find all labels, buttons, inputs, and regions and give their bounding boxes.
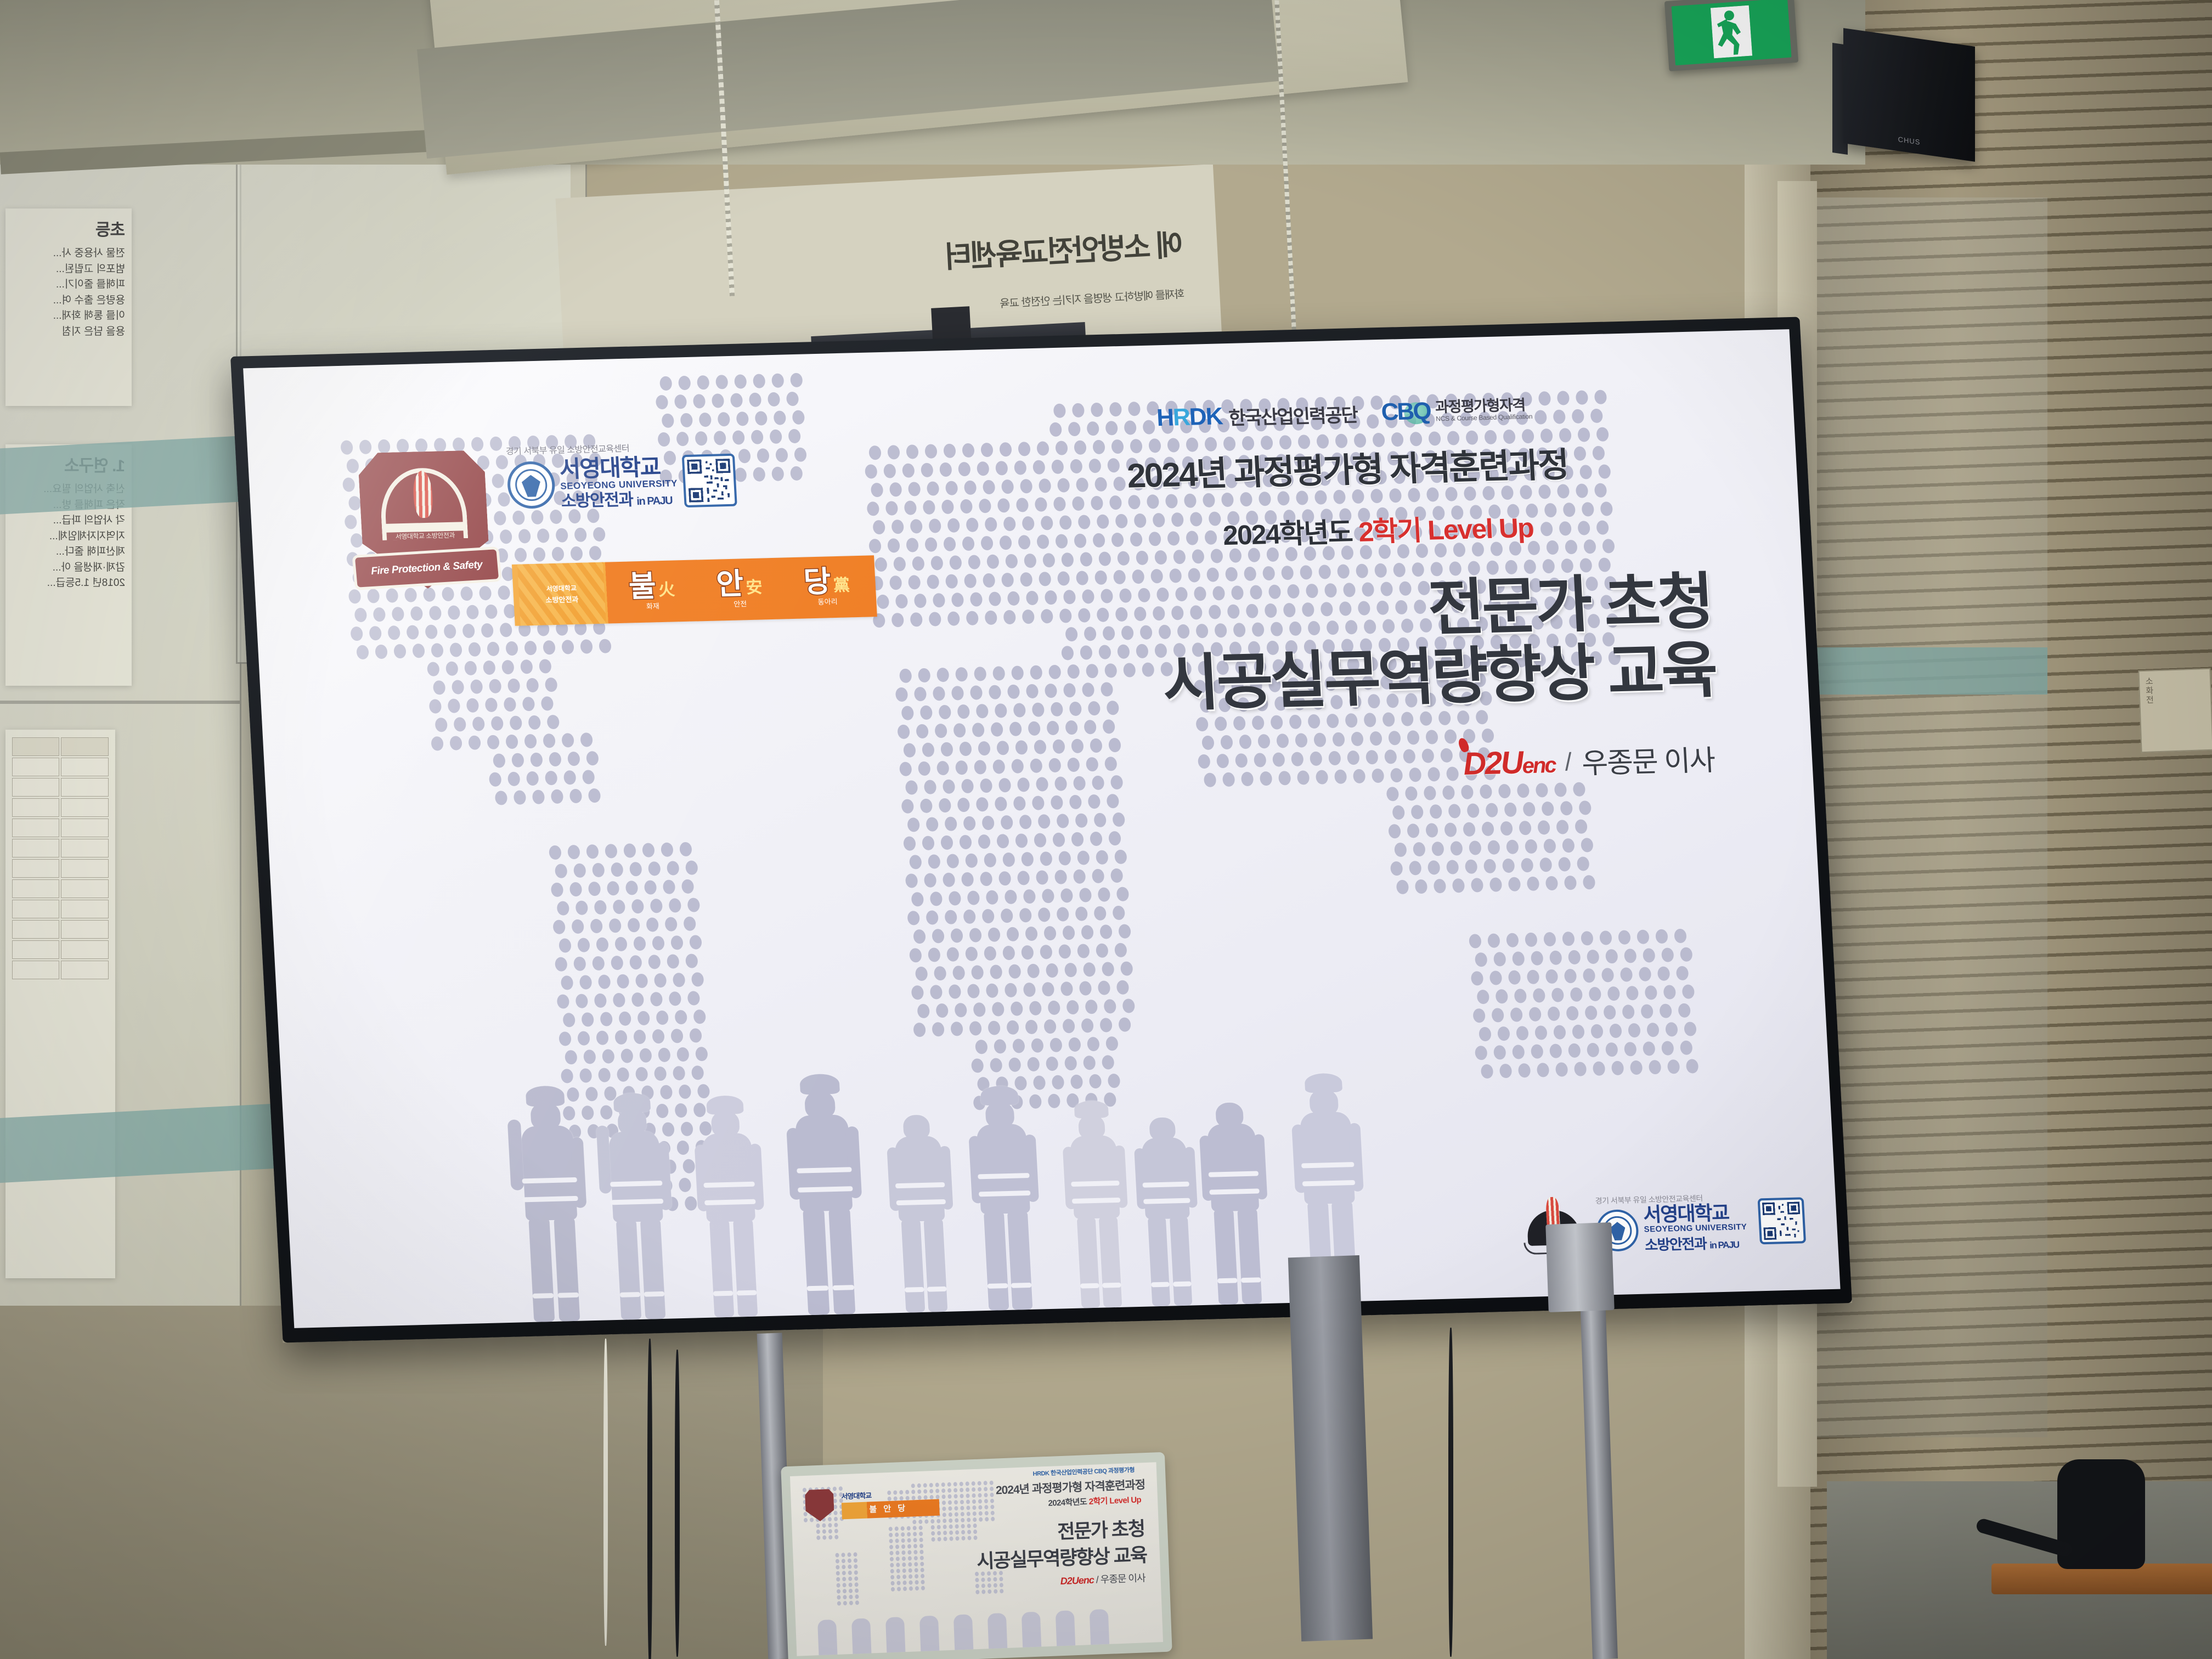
poster-map-dot xyxy=(907,1544,911,1549)
poster-map-dot xyxy=(855,1588,859,1593)
poster-map-dot xyxy=(907,1526,911,1531)
poster-map-dot xyxy=(988,1589,991,1594)
poster-map-dot xyxy=(913,1532,917,1536)
poster-map-dot xyxy=(943,1519,946,1523)
poster-map-dot xyxy=(893,1490,897,1494)
leg-shape xyxy=(803,1209,830,1315)
poster-map-dot xyxy=(855,1600,859,1605)
poster-map-dot xyxy=(841,1553,845,1557)
leg-shape xyxy=(528,1218,555,1322)
poster-map-dot xyxy=(909,1581,912,1585)
photo-scene: 초등 전물 사용중 사... 범포의 고립된... 피해를 줄이기... 용량은… xyxy=(0,0,2212,1659)
firefighter-silhouette xyxy=(887,1099,956,1313)
poster-map-dot xyxy=(920,1562,924,1566)
torso-shape xyxy=(894,1136,945,1222)
poster-map-dot xyxy=(902,1562,906,1567)
poster-map-dot xyxy=(975,1578,979,1582)
poster-firefighter-silhouette xyxy=(817,1620,838,1656)
poster-map-dot xyxy=(907,1532,911,1537)
leg-shape xyxy=(924,1218,948,1312)
poster-map-dot xyxy=(816,1536,820,1540)
poster-map-dot xyxy=(961,1524,965,1528)
poster-map-dot xyxy=(849,1595,853,1599)
poster-map-dot xyxy=(923,1489,927,1493)
arm-shape xyxy=(507,1120,524,1190)
torso-shape xyxy=(608,1131,663,1222)
black-cable xyxy=(1448,1328,1453,1657)
poster-map-dot xyxy=(915,1580,918,1584)
poster-map-dot xyxy=(935,1489,939,1493)
poster-map-dot xyxy=(985,1517,989,1521)
poster-map-dot xyxy=(911,1483,915,1488)
qr-code-icon[interactable] xyxy=(1758,1197,1806,1244)
poster-map-dot xyxy=(978,1481,981,1486)
fire-safety-crest-logo: 서영대학교 소방안전과 Fire Protection & Safety xyxy=(358,450,491,590)
poster-map-dot xyxy=(836,1577,840,1582)
poster-map-dot xyxy=(978,1493,981,1498)
floor xyxy=(0,1306,823,1659)
poster-map-dot xyxy=(854,1576,858,1581)
poster-map-dot xyxy=(842,1565,845,1569)
poster-map-dot xyxy=(897,1587,901,1591)
poster-map-dot xyxy=(929,1489,933,1493)
presenter-line: D2Uenc / 우종문 이사 xyxy=(1033,736,1748,795)
poster-frame: HRDK 한국산업인력공단 CBQ 과정평가형 2024년 과정평가형 자격훈련… xyxy=(781,1452,1172,1659)
reflective-stripe xyxy=(988,1283,1008,1289)
poster-map-dot xyxy=(981,1577,985,1582)
poster-map-dot xyxy=(901,1544,905,1549)
poster-map-dot xyxy=(848,1565,851,1569)
poster-map-dot xyxy=(990,1481,994,1485)
qr-code-svg xyxy=(687,459,732,503)
reflective-stripe xyxy=(905,1286,924,1292)
door-glass xyxy=(1817,198,2047,1437)
reflective-stripe xyxy=(1173,1281,1192,1286)
poster-map-dot xyxy=(837,1601,841,1606)
poster-map-dot xyxy=(949,1531,953,1535)
poster-firefighter-silhouette xyxy=(885,1617,906,1656)
leg-shape xyxy=(984,1211,1009,1311)
exit-icon xyxy=(1671,0,1791,65)
poster-map-dot xyxy=(929,1483,933,1487)
poster-map-dot xyxy=(931,1537,935,1542)
poster-map-dot xyxy=(921,1580,924,1584)
poster-map-dot xyxy=(836,1583,840,1588)
poster-map-dot xyxy=(890,1563,894,1567)
poster-map-dot xyxy=(836,1571,840,1576)
poster-map-dot xyxy=(990,1499,994,1503)
poster-map-dot xyxy=(913,1550,917,1554)
poster-map-dot xyxy=(981,1589,985,1594)
poster-map-dot xyxy=(943,1513,946,1517)
poster-map-dot xyxy=(843,1601,847,1605)
leg-shape xyxy=(828,1208,856,1314)
firefighter-silhouette xyxy=(600,1092,674,1320)
poster-map-dot xyxy=(848,1559,851,1563)
firefighter-silhouette xyxy=(1134,1103,1200,1307)
poster-map-dot xyxy=(889,1545,893,1549)
poster-presenter: D2Uenc / 우종문 이사 xyxy=(1060,1570,1145,1588)
firefighter-silhouette xyxy=(786,1073,865,1315)
poster-map-dot xyxy=(978,1487,981,1492)
term-line: 2024학년도 2학기 Level Up xyxy=(1031,501,1725,558)
poster-map-dot xyxy=(990,1487,994,1491)
poster-map-dot xyxy=(843,1595,847,1599)
poster-map-dot xyxy=(1000,1589,1003,1593)
poster-map-dot xyxy=(984,1493,988,1497)
poster-map-dot xyxy=(975,1584,979,1588)
poster-map-dot xyxy=(902,1568,906,1573)
poster-map-dot xyxy=(896,1581,900,1585)
poster-firefighter-silhouette xyxy=(1056,1610,1076,1649)
poster-map-dot xyxy=(899,1490,903,1494)
poster-map-dot xyxy=(842,1577,846,1581)
poster-map-dot xyxy=(810,1517,814,1522)
poster-map-dot xyxy=(966,1493,969,1498)
emergency-exit-sign xyxy=(1664,0,1798,71)
reflective-stripe xyxy=(832,1285,854,1290)
poster-map-dot xyxy=(849,1601,853,1605)
poster-map-dot xyxy=(930,1519,934,1523)
tv-bezel: 서영대학교 소방안전과 Fire Protection & Safety 경기 … xyxy=(230,317,1852,1343)
wall-mounted-display[interactable]: 서영대학교 소방안전과 Fire Protection & Safety 경기 … xyxy=(230,317,1852,1343)
reflective-stripe xyxy=(620,1292,641,1297)
poster-map-dot xyxy=(912,1520,916,1524)
poster-map-dot xyxy=(843,1589,847,1593)
poster-map-dot xyxy=(890,1569,894,1573)
reflective-stripe xyxy=(737,1290,757,1295)
poster-map-dot xyxy=(979,1511,983,1516)
poster-map-dot xyxy=(895,1526,899,1531)
poster-map-dot xyxy=(837,1595,840,1600)
poster-map-dot xyxy=(822,1529,826,1533)
firefighter-silhouette xyxy=(694,1095,767,1318)
torso-shape xyxy=(1070,1135,1120,1219)
leg-shape xyxy=(1237,1208,1262,1304)
poster-map-dot xyxy=(966,1505,970,1510)
leg-shape xyxy=(709,1220,735,1317)
poster-map-dot xyxy=(973,1523,977,1528)
presentation-slide: 서영대학교 소방안전과 Fire Protection & Safety 경기 … xyxy=(243,329,1840,1328)
poster-map-dot xyxy=(947,1494,951,1499)
poster-map-dot xyxy=(913,1526,917,1530)
poster-map-dot xyxy=(960,1488,963,1492)
poster-map-dot xyxy=(896,1556,900,1561)
poster-map-dot xyxy=(961,1518,964,1522)
poster-map-dot xyxy=(890,1581,894,1585)
poster-firefighter-silhouette xyxy=(919,1616,940,1655)
poster-map-dot xyxy=(960,1482,963,1486)
poster-firefighter-silhouette xyxy=(953,1614,974,1653)
reflective-stripe xyxy=(1102,1282,1121,1288)
poster-map-dot xyxy=(990,1493,994,1497)
d2u-enc-logo: D2Uenc xyxy=(1463,743,1556,782)
poster-map-dot xyxy=(847,1553,851,1557)
poster-map-dot xyxy=(984,1487,988,1491)
poster-map-dot xyxy=(848,1571,852,1575)
torso-shape xyxy=(521,1125,578,1221)
poster-map-dot xyxy=(907,1550,911,1555)
poster-map-dot xyxy=(955,1512,958,1516)
poster-map-dot xyxy=(961,1512,964,1516)
qr-code-icon[interactable] xyxy=(681,454,737,507)
poster-map-dot xyxy=(919,1538,923,1542)
poster-map-dot xyxy=(913,1544,917,1548)
poster-map-dot xyxy=(954,1500,958,1504)
poster-map-dot xyxy=(854,1570,858,1575)
reflective-stripe xyxy=(1080,1283,1099,1288)
poster-map-dot xyxy=(921,1574,924,1578)
poster-map-dot xyxy=(915,1574,918,1578)
poster-map-dot xyxy=(955,1518,958,1522)
leg-shape xyxy=(1214,1209,1238,1305)
reflective-stripe xyxy=(713,1290,733,1296)
poster-map-dot xyxy=(979,1517,983,1522)
poster-map-dot xyxy=(914,1562,918,1566)
firefighter-silhouette xyxy=(968,1085,1042,1311)
poster-map-dot xyxy=(953,1488,957,1492)
poster-map-dot xyxy=(923,1483,927,1487)
leg-shape xyxy=(1007,1211,1033,1310)
poster-map-dot xyxy=(848,1583,852,1587)
poster-map-dot xyxy=(972,1499,976,1504)
club-badge: 서영대학교 소방안전과 xyxy=(517,562,606,626)
poster-map-dot xyxy=(854,1558,857,1562)
black-cable xyxy=(675,1350,680,1657)
qr-code-svg xyxy=(1762,1201,1802,1240)
reflective-stripe xyxy=(927,1286,946,1291)
reflective-stripe xyxy=(532,1293,554,1299)
leg-shape xyxy=(554,1217,580,1322)
poster-map-dot xyxy=(889,1551,893,1555)
poster-map-dot xyxy=(967,1530,971,1534)
sponsor-organizations-row: HRDK 한국산업인력공단 CBQ 과정평가형자격 NCS & Course B… xyxy=(998,391,1691,436)
poster-map-dot xyxy=(909,1568,912,1573)
poster-map-dot xyxy=(918,1520,922,1524)
poster-map-dot xyxy=(990,1505,994,1509)
poster-map-dot xyxy=(921,1568,924,1572)
poster-map-dot xyxy=(901,1550,905,1555)
poster-map-dot xyxy=(803,1512,807,1516)
poster-map-dot xyxy=(816,1530,820,1534)
poster-map-dot xyxy=(834,1529,838,1533)
poster-map-dot xyxy=(937,1531,941,1535)
poster-map-dot xyxy=(887,1491,891,1495)
poster-map-dot xyxy=(948,1506,952,1511)
firefighter-silhouette xyxy=(1062,1100,1130,1308)
poster-map-dot xyxy=(834,1523,838,1527)
poster-map-dot xyxy=(908,1562,912,1567)
poster-map-dot xyxy=(913,1538,917,1542)
poster-map-dot xyxy=(842,1571,846,1575)
poster-map-dot xyxy=(973,1511,977,1516)
poster-map-dot xyxy=(955,1524,959,1528)
poster-map-dot xyxy=(942,1506,946,1511)
poster-map-dot xyxy=(822,1523,826,1527)
poster-firefighter-silhouette xyxy=(851,1618,872,1656)
leg-shape xyxy=(616,1220,642,1319)
poster-map-dot xyxy=(920,1556,924,1560)
poster-map-dot xyxy=(919,1544,923,1548)
leg-shape xyxy=(1076,1217,1100,1308)
poster-map-dot xyxy=(955,1530,959,1534)
poster-map-dot xyxy=(949,1525,953,1529)
leg-shape xyxy=(640,1219,666,1319)
poster-map-dot xyxy=(941,1482,945,1487)
poster-map-dot xyxy=(961,1530,965,1534)
poster-map-dot xyxy=(895,1538,899,1543)
display-stand-column xyxy=(1288,1255,1373,1641)
poster-map-dot xyxy=(917,1483,921,1488)
reflective-stripe xyxy=(644,1291,665,1297)
poster-map-dot xyxy=(966,1499,970,1504)
poster-map-dot xyxy=(937,1525,941,1529)
reflective-stripe xyxy=(1151,1282,1170,1287)
poster-map-dot xyxy=(803,1488,806,1492)
poster-map-dot xyxy=(984,1499,988,1503)
poster-map-dot xyxy=(919,1550,923,1554)
poster-map-dot xyxy=(921,1586,925,1590)
poster-map-dot xyxy=(967,1517,970,1522)
tv-screen[interactable]: 서영대학교 소방안전과 Fire Protection & Safety 경기 … xyxy=(243,329,1840,1328)
poster-map-dot xyxy=(972,1481,975,1486)
reflective-stripe xyxy=(806,1286,828,1291)
poster-map-dot xyxy=(941,1488,945,1493)
poster-map-dot xyxy=(828,1535,832,1539)
poster-map-dot xyxy=(890,1557,894,1561)
poster-map-dot xyxy=(966,1487,969,1492)
poster-map-dot xyxy=(909,1575,912,1579)
poster-map-dot xyxy=(837,1589,840,1594)
leg-shape xyxy=(1099,1216,1122,1308)
poster-map-dot xyxy=(948,1500,952,1505)
poster-map-dot xyxy=(941,1494,945,1499)
torso-shape xyxy=(1207,1124,1260,1211)
poster-map-dot xyxy=(834,1517,838,1521)
firefighter-silhouette xyxy=(512,1085,590,1322)
poster-map-dot xyxy=(828,1517,832,1521)
poster-map-dot xyxy=(853,1552,857,1556)
poster-map-dot xyxy=(914,1556,918,1560)
poster-map-dot xyxy=(943,1525,947,1529)
reflective-stripe xyxy=(1241,1278,1261,1283)
poster-map-dot xyxy=(966,1481,969,1486)
poster-map-dot xyxy=(919,1532,923,1536)
poster-map-dot xyxy=(947,1488,951,1493)
cbq-logo: CBQ 과정평가형자격 NCS & Course Based Qualifica… xyxy=(1380,395,1532,426)
poster-map-dot xyxy=(816,1523,820,1528)
poster-map-dot xyxy=(901,1526,905,1531)
wall-speaker: CHUS xyxy=(1843,28,1975,162)
leg-shape xyxy=(1169,1216,1192,1306)
poster-map-dot xyxy=(953,1482,957,1486)
poster-map-dot xyxy=(895,1544,899,1549)
poster-map-dot xyxy=(961,1536,965,1541)
poster-map-dot xyxy=(972,1493,975,1498)
poster-map-dot xyxy=(919,1526,923,1530)
poster-firefighter-silhouette xyxy=(988,1613,1008,1652)
poster-map-dot xyxy=(931,1525,935,1530)
poster-map-dot xyxy=(804,1518,808,1522)
poster-map-dot xyxy=(836,1565,839,1570)
poster-map-dot xyxy=(902,1581,906,1585)
poster-map-dot xyxy=(935,1483,939,1487)
poster-map-dot xyxy=(889,1533,893,1537)
seal-core-shape xyxy=(1610,1222,1626,1241)
poster-map-dot xyxy=(994,1583,997,1588)
club-char-group: 안 安 안전 xyxy=(715,569,763,609)
poster-map-dot xyxy=(836,1559,839,1564)
poster-map-dot xyxy=(915,1586,919,1590)
white-cable xyxy=(603,1339,608,1646)
leg-shape xyxy=(901,1219,925,1313)
poster-map-dot xyxy=(834,1535,838,1539)
poster-map-dot xyxy=(960,1500,964,1504)
poster-map-dot xyxy=(973,1530,977,1534)
poster-map-dot xyxy=(895,1532,899,1537)
leg-shape xyxy=(733,1219,758,1317)
poster-map-dot xyxy=(828,1529,832,1533)
seal-core-shape xyxy=(521,475,541,497)
poster-map-dot xyxy=(917,1489,921,1494)
poster-map-dot xyxy=(942,1500,946,1505)
university-row: 서영대학교 SEOYEONG UNIVERSITY 소방안전과 in PAJU xyxy=(506,450,871,512)
torso-shape xyxy=(702,1133,755,1223)
arm-shape xyxy=(596,1125,612,1193)
poster-map-dot xyxy=(978,1499,982,1504)
poster-map-dot xyxy=(901,1538,905,1543)
torso-shape xyxy=(795,1114,853,1212)
poster-map-dot xyxy=(967,1511,970,1516)
poster-map-dot xyxy=(842,1559,845,1563)
flame-accent-icon xyxy=(1457,737,1470,753)
poster-map-dot xyxy=(936,1519,940,1523)
hrdk-wordmark: HRDK xyxy=(1156,403,1223,432)
footer-university: 경기 서북부 유일 소방안전교육센터 서영대학교 SEOYEONG UNIVER… xyxy=(1595,1192,1748,1256)
poster-map-dot xyxy=(903,1587,907,1591)
poster-map-dot xyxy=(822,1535,826,1539)
poster-map-dot xyxy=(902,1556,906,1561)
poster-map-dot xyxy=(981,1583,985,1588)
poster-map-dot xyxy=(889,1527,893,1531)
poster-map-dot xyxy=(849,1589,853,1593)
poster-map-dot xyxy=(993,1577,997,1582)
display-stand-bracket xyxy=(1545,1222,1615,1312)
poster-map-dot xyxy=(901,1532,905,1537)
door-teal-band xyxy=(1817,647,2047,695)
poster-map-dot xyxy=(949,1513,952,1517)
torso-shape xyxy=(1300,1111,1355,1204)
black-cable xyxy=(647,1339,652,1659)
running-man-icon xyxy=(1711,5,1752,59)
poster-map-dot xyxy=(960,1494,963,1498)
poster-map-dot xyxy=(915,1568,918,1572)
poster-map-dot xyxy=(833,1511,837,1515)
poster-map-dot xyxy=(975,1590,979,1594)
poster-map-dot xyxy=(891,1587,895,1592)
torso-shape xyxy=(1141,1137,1190,1220)
poster-map-dot xyxy=(911,1489,915,1494)
reflective-stripe xyxy=(557,1293,579,1298)
poster-map-dot xyxy=(902,1575,906,1579)
poster-map-dot xyxy=(855,1594,859,1599)
firefighter-silhouettes xyxy=(509,989,1567,1322)
glass-notice-document: 초등 전물 사용중 사... 범포의 고립된... 피해를 줄이기... 용량은… xyxy=(5,208,132,406)
poster-map-dot xyxy=(973,1517,977,1522)
university-seal-icon xyxy=(506,461,556,509)
poster-map-dot xyxy=(924,1519,928,1523)
fire-hydrant-wall-plate: 소화전 xyxy=(2138,668,2212,753)
